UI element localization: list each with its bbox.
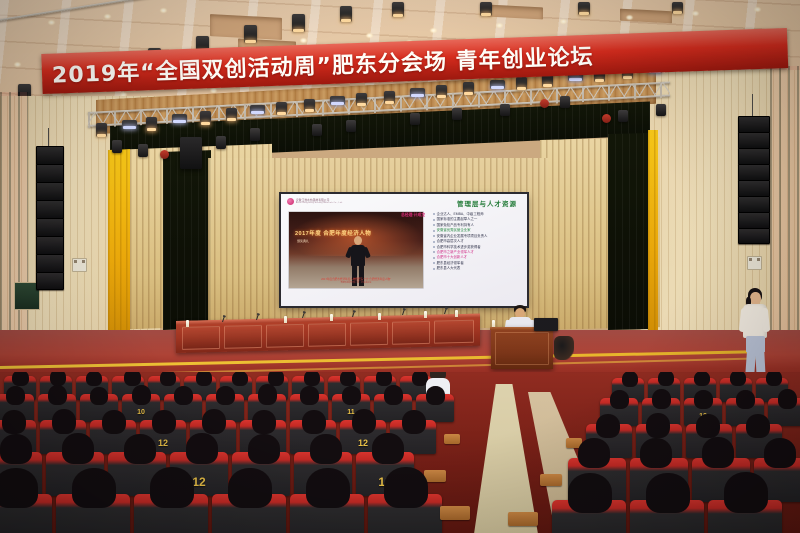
presenter-laptop (534, 318, 558, 331)
seat-armrest (440, 506, 470, 520)
line-array-speaker-left (36, 146, 62, 296)
arm-right (761, 308, 770, 333)
moving-head-light (560, 96, 570, 108)
list-item: 合肥市科学技术进步奖获得者 (433, 245, 525, 250)
stage-light-par (384, 91, 395, 104)
bullet-dot-icon (433, 268, 435, 270)
water-bottle (330, 314, 333, 321)
moving-head-light (138, 144, 148, 157)
bullet-dot-icon (433, 213, 435, 215)
stage-light-par (276, 102, 287, 115)
moving-head-light (452, 108, 462, 120)
bullet-dot-icon (433, 246, 435, 248)
seat-armrest (444, 434, 460, 444)
stage-light-par (463, 82, 474, 95)
stage-monitor-speaker (180, 137, 202, 169)
bullet-dot-icon (433, 219, 435, 221)
logo-mark-icon (287, 198, 294, 205)
projection-screen: 安徽江淮水热源材有限公司 Anhui Hongcheng Heating Mat… (281, 194, 527, 306)
stage-curtain-black-right (608, 133, 652, 330)
moving-head-light (500, 104, 510, 116)
bullet-dot-icon (433, 230, 435, 232)
podium-water-bottle (492, 320, 495, 327)
stage-curtain-yellow-left (108, 149, 130, 336)
podium-cables (554, 336, 574, 360)
stage-light-wash (410, 88, 425, 97)
left-wall-speaker-panel (72, 258, 87, 272)
side-curtain-left (0, 92, 28, 362)
photo-subline: 颁奖典礼 (297, 239, 309, 243)
stage-light-ceiling (480, 2, 492, 16)
side-curtain-right (770, 66, 800, 366)
audience-seating-area: 10 11 12 (0, 372, 800, 533)
moving-head-light (618, 110, 628, 122)
stage-curtain-yellow-right (648, 130, 658, 330)
list-item: 安徽省内企业发展专项项目负责人 (433, 234, 525, 239)
stage-light-wash (330, 96, 345, 105)
conference-hall-photo: 安徽江淮水热源材有限公司 Anhui Hongcheng Heating Mat… (0, 0, 800, 533)
slide-award-photo: 2017年度 合肥年度经济人物 颁奖典礼 2017年度合肥市经济年度人物暨肥东十… (289, 212, 423, 288)
moving-head-light (250, 128, 260, 141)
stage-light-wash (250, 105, 265, 114)
seat-armrest (508, 512, 538, 526)
list-item: 国家标准的主要起草人之一 (433, 217, 525, 222)
stage-light-ceiling (340, 6, 352, 22)
hand (751, 329, 761, 336)
seat-armrest (540, 474, 562, 486)
stage-light-wash (122, 120, 137, 129)
moving-head-light (112, 140, 122, 153)
moving-head-light-red (160, 150, 169, 159)
stage-light-ceiling (244, 25, 257, 43)
list-item: 合肥市十大创新人才 (433, 255, 525, 260)
stage-light-ceiling (292, 14, 305, 32)
list-item: 国家免检产品专利持有人 (433, 223, 525, 228)
seat-armrest (424, 470, 446, 482)
water-bottle (424, 311, 427, 318)
moving-head-light-red (540, 99, 549, 108)
stage-light-par (436, 85, 447, 98)
moving-head-light (216, 136, 226, 149)
slide-company-logo: 安徽江淮水热源材有限公司 Anhui Hongcheng Heating Mat… (287, 198, 343, 205)
stage-light-par (96, 123, 107, 137)
stage-light-par (226, 108, 237, 121)
wooden-podium (491, 327, 553, 369)
stage-light-par (516, 77, 527, 90)
moving-head-light (346, 120, 356, 132)
stage-light-par (200, 111, 211, 125)
list-item: 肥东县经济领军者 (433, 261, 525, 266)
water-bottle (378, 313, 381, 320)
stage-light-wash (490, 80, 505, 89)
water-bottle (284, 316, 287, 323)
bullet-dot-icon (433, 235, 435, 237)
podium-front-panel (495, 332, 549, 365)
stage-curtain-black-left (163, 150, 211, 330)
moving-head-light (312, 124, 322, 136)
bullet-dot-icon (433, 257, 435, 259)
stage-light-par (146, 117, 157, 131)
bullet-dot-icon (433, 224, 435, 226)
stage-light-ceiling (392, 2, 404, 17)
stage-light-par (356, 93, 367, 106)
stage-light-wash (172, 114, 187, 123)
list-item: 合肥市高层次人才 (433, 239, 525, 244)
right-wall-control-panel (747, 256, 762, 270)
bullet-dot-icon (433, 251, 435, 253)
bullet-dot-icon (433, 262, 435, 264)
moving-head-light (656, 104, 666, 116)
water-bottle (186, 320, 189, 327)
water-bottle (455, 310, 458, 317)
slide-lead-line: 总经理·计成龙 (401, 213, 425, 218)
stage-light-ceiling (672, 2, 683, 14)
moving-head-light (410, 113, 420, 125)
list-item: 安徽省优秀民营企业家 (433, 228, 525, 233)
stage-light-par (304, 99, 315, 112)
list-item: 肥东县人大代表 (433, 266, 525, 271)
center-aisle (474, 384, 538, 533)
bullet-dot-icon (433, 241, 435, 243)
slide-heading: 管理层与人才资源 (457, 198, 517, 208)
logo-text-en: Anhui Hongcheng Heating Materials Co., L… (296, 202, 343, 204)
slide-bullet-list: 企业达人、EMBA、中级工程师 国家标准的主要起草人之一 国家免检产品专利持有人… (433, 212, 525, 272)
photo-caption: 2017年度合肥市经济年度人物暨肥东十大“合肥经济年度人物” 合肥市经济年度人物… (293, 278, 419, 285)
line-array-speaker-right (738, 116, 768, 244)
stage-light-ceiling (578, 2, 590, 15)
moving-head-light-red (602, 114, 611, 123)
